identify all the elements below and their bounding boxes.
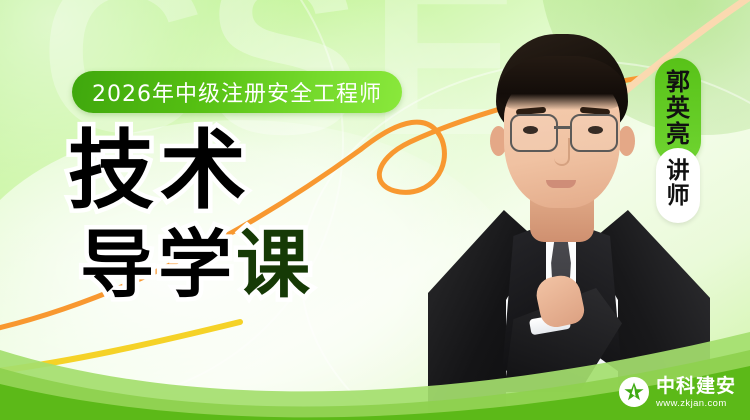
instructor-role-char: 讲 <box>667 159 690 184</box>
instructor-role-pill: 讲 师 <box>656 148 700 223</box>
title-line-2: 导 学 课 <box>80 228 314 302</box>
instructor-name-char: 亮 <box>666 122 690 148</box>
ear-right <box>618 126 635 156</box>
eyeglasses-bridge <box>554 126 570 129</box>
title-char: 课 <box>236 228 314 302</box>
instructor-role-char: 师 <box>667 184 690 209</box>
star-arrow-icon <box>619 377 649 407</box>
hair-fringe <box>497 56 627 110</box>
brand-logo: 中科建安 www.zkjan.com <box>619 377 736 409</box>
page-title: 技 术 导 学 课 <box>68 128 314 302</box>
title-char: 技 <box>68 128 160 214</box>
instructor-name-char: 郭 <box>666 70 690 96</box>
course-subtitle-badge: 2026年中级注册安全工程师 <box>72 71 402 113</box>
title-char: 导 <box>80 228 158 302</box>
course-poster: C S E 2026年中级注册安全工程师 技 术 导 学 课 <box>0 0 750 420</box>
eyeglasses-left-lens <box>510 114 558 152</box>
title-char: 术 <box>160 128 252 214</box>
nose <box>554 138 570 166</box>
instructor-name-char: 英 <box>666 96 690 122</box>
brand-url: www.zkjan.com <box>656 399 736 409</box>
title-line-1: 技 术 <box>68 128 314 214</box>
eyeglasses-right-lens <box>570 114 618 152</box>
brand-name: 中科建安 <box>656 377 736 396</box>
badge-label: 2026年中级注册安全工程师 <box>92 76 382 108</box>
title-char: 学 <box>158 228 236 302</box>
brand-text: 中科建安 www.zkjan.com <box>656 377 736 409</box>
mouth <box>546 180 576 188</box>
